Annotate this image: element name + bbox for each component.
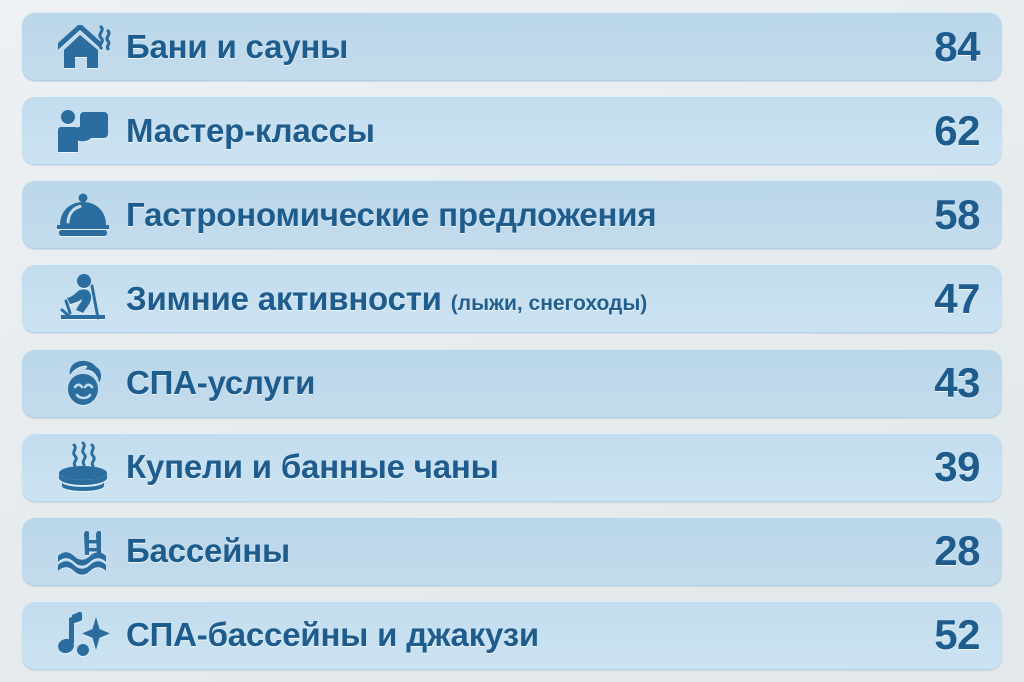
- presenter-board-icon: [40, 96, 126, 165]
- list-item-label: Зимние активности: [126, 280, 442, 318]
- list-item-label-group: Зимние активности (лыжи, снегоходы): [126, 280, 868, 318]
- list-item-value: 47: [868, 275, 980, 323]
- list-item-label: Бани и сауны: [126, 28, 348, 66]
- swimming-pool-ladder-icon: [40, 517, 126, 586]
- list-item-value: 58: [868, 191, 980, 239]
- list-item-value: 52: [868, 611, 980, 659]
- list-item-label: СПА-услуги: [126, 364, 315, 402]
- list-item[interactable]: Зимние активности (лыжи, снегоходы) 47: [22, 264, 1002, 333]
- skier-icon: [40, 264, 126, 333]
- list-item-label-group: Гастрономические предложения: [126, 196, 868, 234]
- category-ranking-list: Бани и сауны 84 Мастер-классы 62: [0, 0, 1024, 682]
- list-item[interactable]: СПА-бассейны и джакузи 52: [22, 601, 1002, 670]
- list-item-label-group: СПА-услуги: [126, 364, 868, 402]
- music-note-sparkle-icon: [40, 601, 126, 670]
- list-item[interactable]: Купели и банные чаны 39: [22, 433, 1002, 502]
- list-item[interactable]: Мастер-классы 62: [22, 96, 1002, 165]
- list-item[interactable]: Гастрономические предложения 58: [22, 180, 1002, 249]
- list-item[interactable]: Бассейны 28: [22, 517, 1002, 586]
- sauna-house-steam-icon: [40, 12, 126, 81]
- list-item-label-group: Бани и сауны: [126, 28, 868, 66]
- list-item-label: СПА-бассейны и джакузи: [126, 616, 539, 654]
- hot-tub-steam-icon: [40, 433, 126, 502]
- list-item-label-group: Мастер-классы: [126, 112, 868, 150]
- list-item-value: 28: [868, 527, 980, 575]
- list-item-value: 62: [868, 107, 980, 155]
- list-item[interactable]: СПА-услуги 43: [22, 349, 1002, 418]
- list-item-label: Бассейны: [126, 532, 290, 570]
- list-item-value: 43: [868, 359, 980, 407]
- list-item-label-group: СПА-бассейны и джакузи: [126, 616, 868, 654]
- list-item-label: Гастрономические предложения: [126, 196, 656, 234]
- list-item-value: 84: [868, 23, 980, 71]
- list-item-label-group: Бассейны: [126, 532, 868, 570]
- food-cloche-icon: [40, 180, 126, 249]
- spa-face-mask-icon: [40, 349, 126, 418]
- list-item-label-group: Купели и банные чаны: [126, 448, 868, 486]
- list-item-label: Купели и банные чаны: [126, 448, 499, 486]
- list-item-sublabel: (лыжи, снегоходы): [451, 292, 648, 316]
- list-item-value: 39: [868, 443, 980, 491]
- list-item[interactable]: Бани и сауны 84: [22, 12, 1002, 81]
- list-item-label: Мастер-классы: [126, 112, 375, 150]
